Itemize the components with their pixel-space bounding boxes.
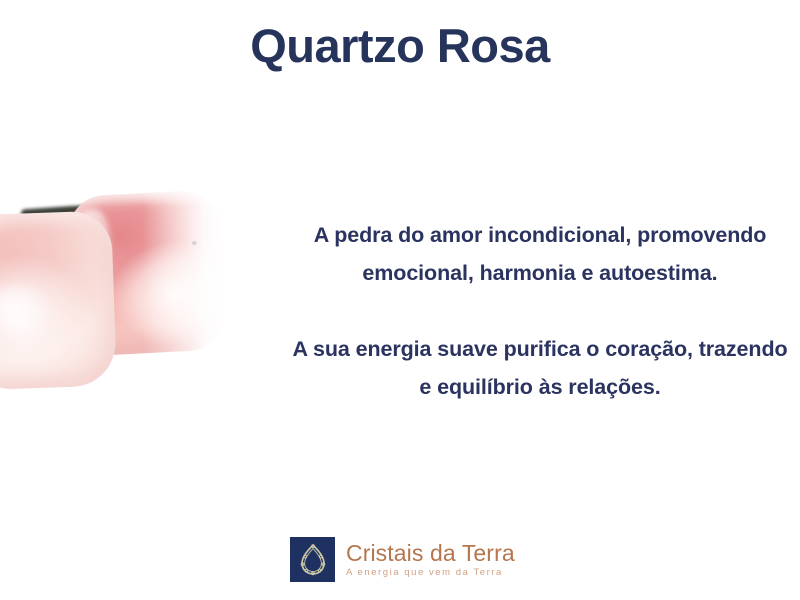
body-copy: A pedra do amor incondicional, promovend… (250, 216, 800, 406)
paragraph-2-line-1: A sua energia suave purifica o coração, … (250, 330, 800, 368)
logo-wordmark: Cristais da Terra A energia que vem da T… (346, 541, 515, 579)
logo-brand-name: Cristais da Terra (346, 541, 515, 565)
paragraph-2-line-2: e equilíbrio às relações. (250, 368, 800, 406)
brand-logo: Cristais da Terra A energia que vem da T… (290, 537, 515, 582)
paragraph-1-line-2: emocional, harmonia e autoestima. (250, 254, 800, 292)
stone-inclusion-speck (192, 241, 197, 245)
rose-quartz-stone-front (0, 210, 117, 390)
crystal-gem-icon (290, 537, 335, 582)
page-title: Quartzo Rosa (0, 18, 800, 74)
paragraph-2: A sua energia suave purifica o coração, … (250, 330, 800, 406)
logo-tagline: A energia que vem da Terra (346, 568, 515, 578)
rose-quartz-photo (0, 185, 225, 420)
paragraph-1: A pedra do amor incondicional, promovend… (250, 216, 800, 292)
paragraph-1-line-1: A pedra do amor incondicional, promovend… (250, 216, 800, 254)
slide-canvas: Quartzo Rosa A pedra do amor incondicion… (0, 0, 800, 600)
